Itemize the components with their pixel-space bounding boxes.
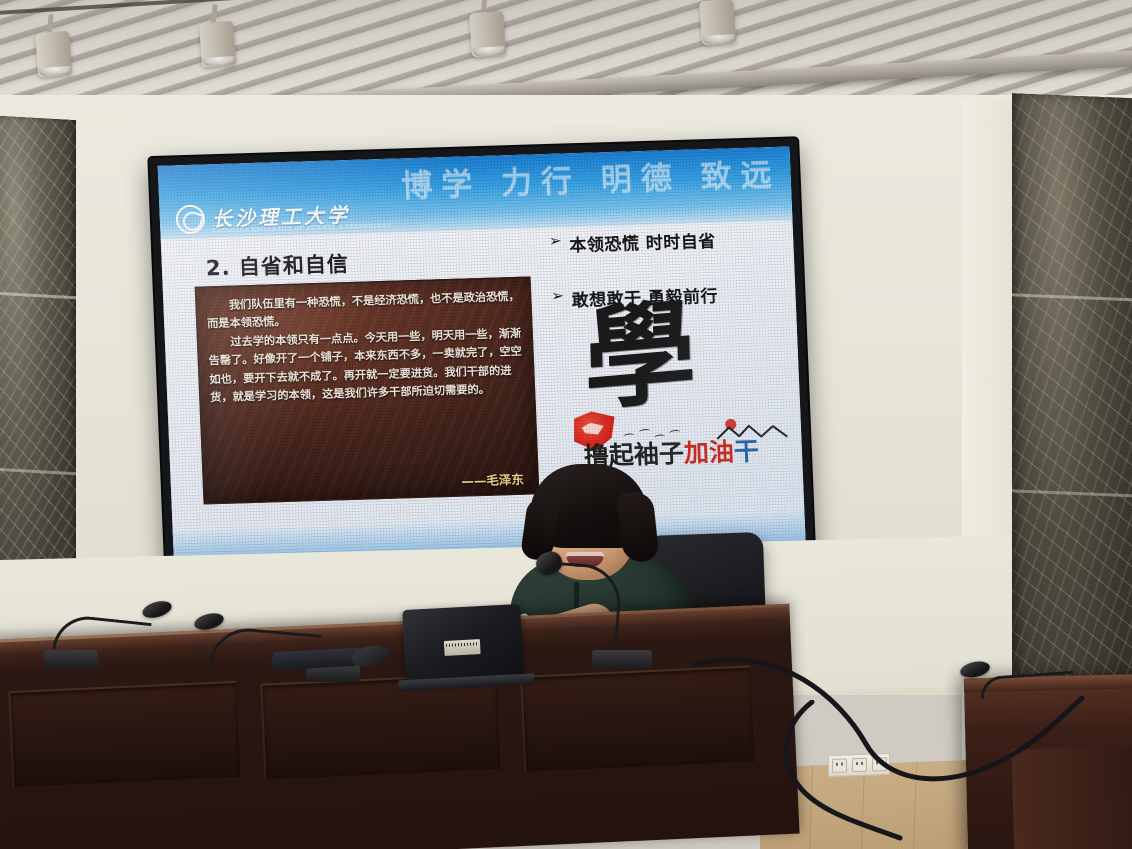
lectern-base (1012, 746, 1132, 849)
bullet-marker-icon: ➢ (549, 232, 563, 251)
track-light-icon (698, 0, 736, 45)
presenter-hair (530, 464, 648, 548)
track-light-icon (34, 13, 72, 77)
track-light-icon (198, 3, 236, 67)
outlet-socket-icon (852, 758, 867, 773)
quote-paragraph-2: 过去学的本领只有一点点。今天用一些，明天用一些，渐渐告罄了。好像开了一个铺子，本… (208, 325, 525, 407)
outlet-socket-icon (832, 758, 847, 773)
gooseneck-mic-speaker[interactable] (528, 546, 648, 666)
desk-front-panel (8, 681, 240, 787)
slogan-red-part: 加油 (683, 437, 734, 468)
desk-front-panel (260, 673, 500, 780)
track-light-icon (468, 0, 506, 57)
desk-front-panel (520, 666, 754, 772)
laptop-asset-tag (444, 639, 481, 656)
slide-heading: 2. 自省和自信 (205, 248, 349, 282)
quote-paragraphs: 我们队伍里有一种恐慌，不是经济恐慌，也不是政治恐慌，而是本领恐慌。 过去学的本领… (206, 288, 524, 407)
university-emblem-icon (175, 204, 205, 234)
bullet-item: ➢ 本领恐慌 时时自省 (549, 225, 782, 257)
side-lectern[interactable] (964, 674, 1132, 849)
presenter-laptop[interactable] (402, 604, 524, 682)
bullet-label: 本领恐慌 时时自省 (569, 227, 716, 256)
calligraphy-character: 學 (583, 296, 697, 417)
slogan-blue-part: 干 (733, 437, 759, 467)
outlet-socket-icon (872, 757, 887, 772)
wall-power-outlet[interactable] (828, 753, 890, 777)
lecture-hall-scene: 博学 力行 明德 致远 长沙理工大学 CHANGSHA UNIVERSITY O… (0, 0, 1132, 849)
